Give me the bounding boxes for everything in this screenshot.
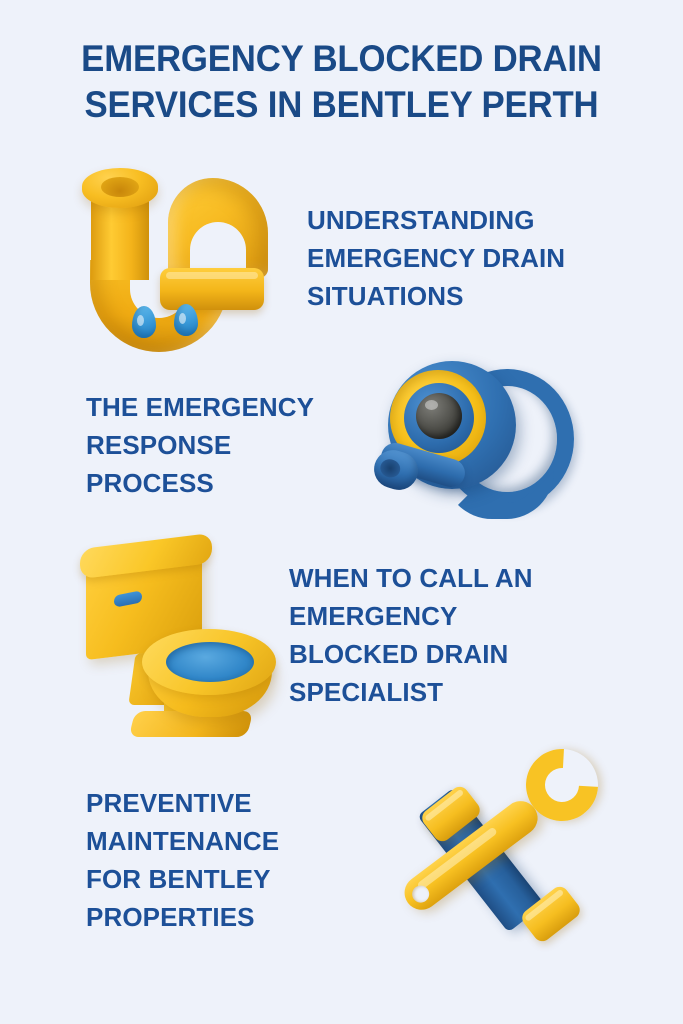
section-3-line-3: BLOCKED DRAIN <box>289 635 533 673</box>
title-line-2: SERVICES IN BENTLEY PERTH <box>20 82 662 128</box>
section-4-text: PREVENTIVE MAINTENANCE FOR BENTLEY PROPE… <box>86 784 376 936</box>
p-trap-pipe-with-water-drops-icon <box>72 160 287 355</box>
drain-auger-snake-icon <box>374 355 589 535</box>
section-4-line-1: PREVENTIVE <box>86 784 376 822</box>
pipe-coupling-nut <box>160 268 264 310</box>
section-1-line-1: UNDERSTANDING <box>307 201 565 239</box>
section-preventive-maintenance-for-bentley-properties: PREVENTIVE MAINTENANCE FOR BENTLEY PROPE… <box>0 760 683 960</box>
wrench-hang-hole <box>409 882 433 906</box>
title-line-1: EMERGENCY BLOCKED DRAIN <box>20 36 662 82</box>
section-the-emergency-response-process: THE EMERGENCY RESPONSE PROCESS <box>0 350 683 540</box>
toilet-water <box>166 642 254 682</box>
section-3-line-4: SPECIALIST <box>289 673 533 711</box>
section-1-line-3: SITUATIONS <box>307 277 565 315</box>
section-2-text: THE EMERGENCY RESPONSE PROCESS <box>86 388 356 502</box>
toilet-icon <box>80 535 275 735</box>
pipe-top-collar <box>82 168 158 208</box>
water-drop-icon <box>174 304 198 336</box>
section-4-line-4: PROPERTIES <box>86 898 376 936</box>
section-4-line-3: FOR BENTLEY <box>86 860 376 898</box>
section-1-text: UNDERSTANDING EMERGENCY DRAIN SITUATIONS <box>307 201 565 315</box>
page-title: EMERGENCY BLOCKED DRAIN SERVICES IN BENT… <box>20 36 662 128</box>
section-1-line-2: EMERGENCY DRAIN <box>307 239 565 277</box>
section-3-line-1: WHEN TO CALL AN <box>289 559 533 597</box>
section-understanding-emergency-drain-situations: UNDERSTANDING EMERGENCY DRAIN SITUATIONS <box>0 160 683 355</box>
section-2-line-1: THE EMERGENCY <box>86 388 356 426</box>
infographic-page: EMERGENCY BLOCKED DRAIN SERVICES IN BENT… <box>0 0 683 1024</box>
auger-center-hub <box>416 393 462 439</box>
wrench-and-pipe-tools-icon <box>386 768 596 953</box>
section-3-line-2: EMERGENCY <box>289 597 533 635</box>
water-drop-icon <box>132 306 156 338</box>
section-4-line-2: MAINTENANCE <box>86 822 376 860</box>
section-when-to-call-an-emergency-blocked-drain-specialist: WHEN TO CALL AN EMERGENCY BLOCKED DRAIN … <box>0 532 683 737</box>
section-2-line-2: RESPONSE <box>86 426 356 464</box>
section-2-line-3: PROCESS <box>86 464 356 502</box>
section-3-text: WHEN TO CALL AN EMERGENCY BLOCKED DRAIN … <box>289 559 533 711</box>
